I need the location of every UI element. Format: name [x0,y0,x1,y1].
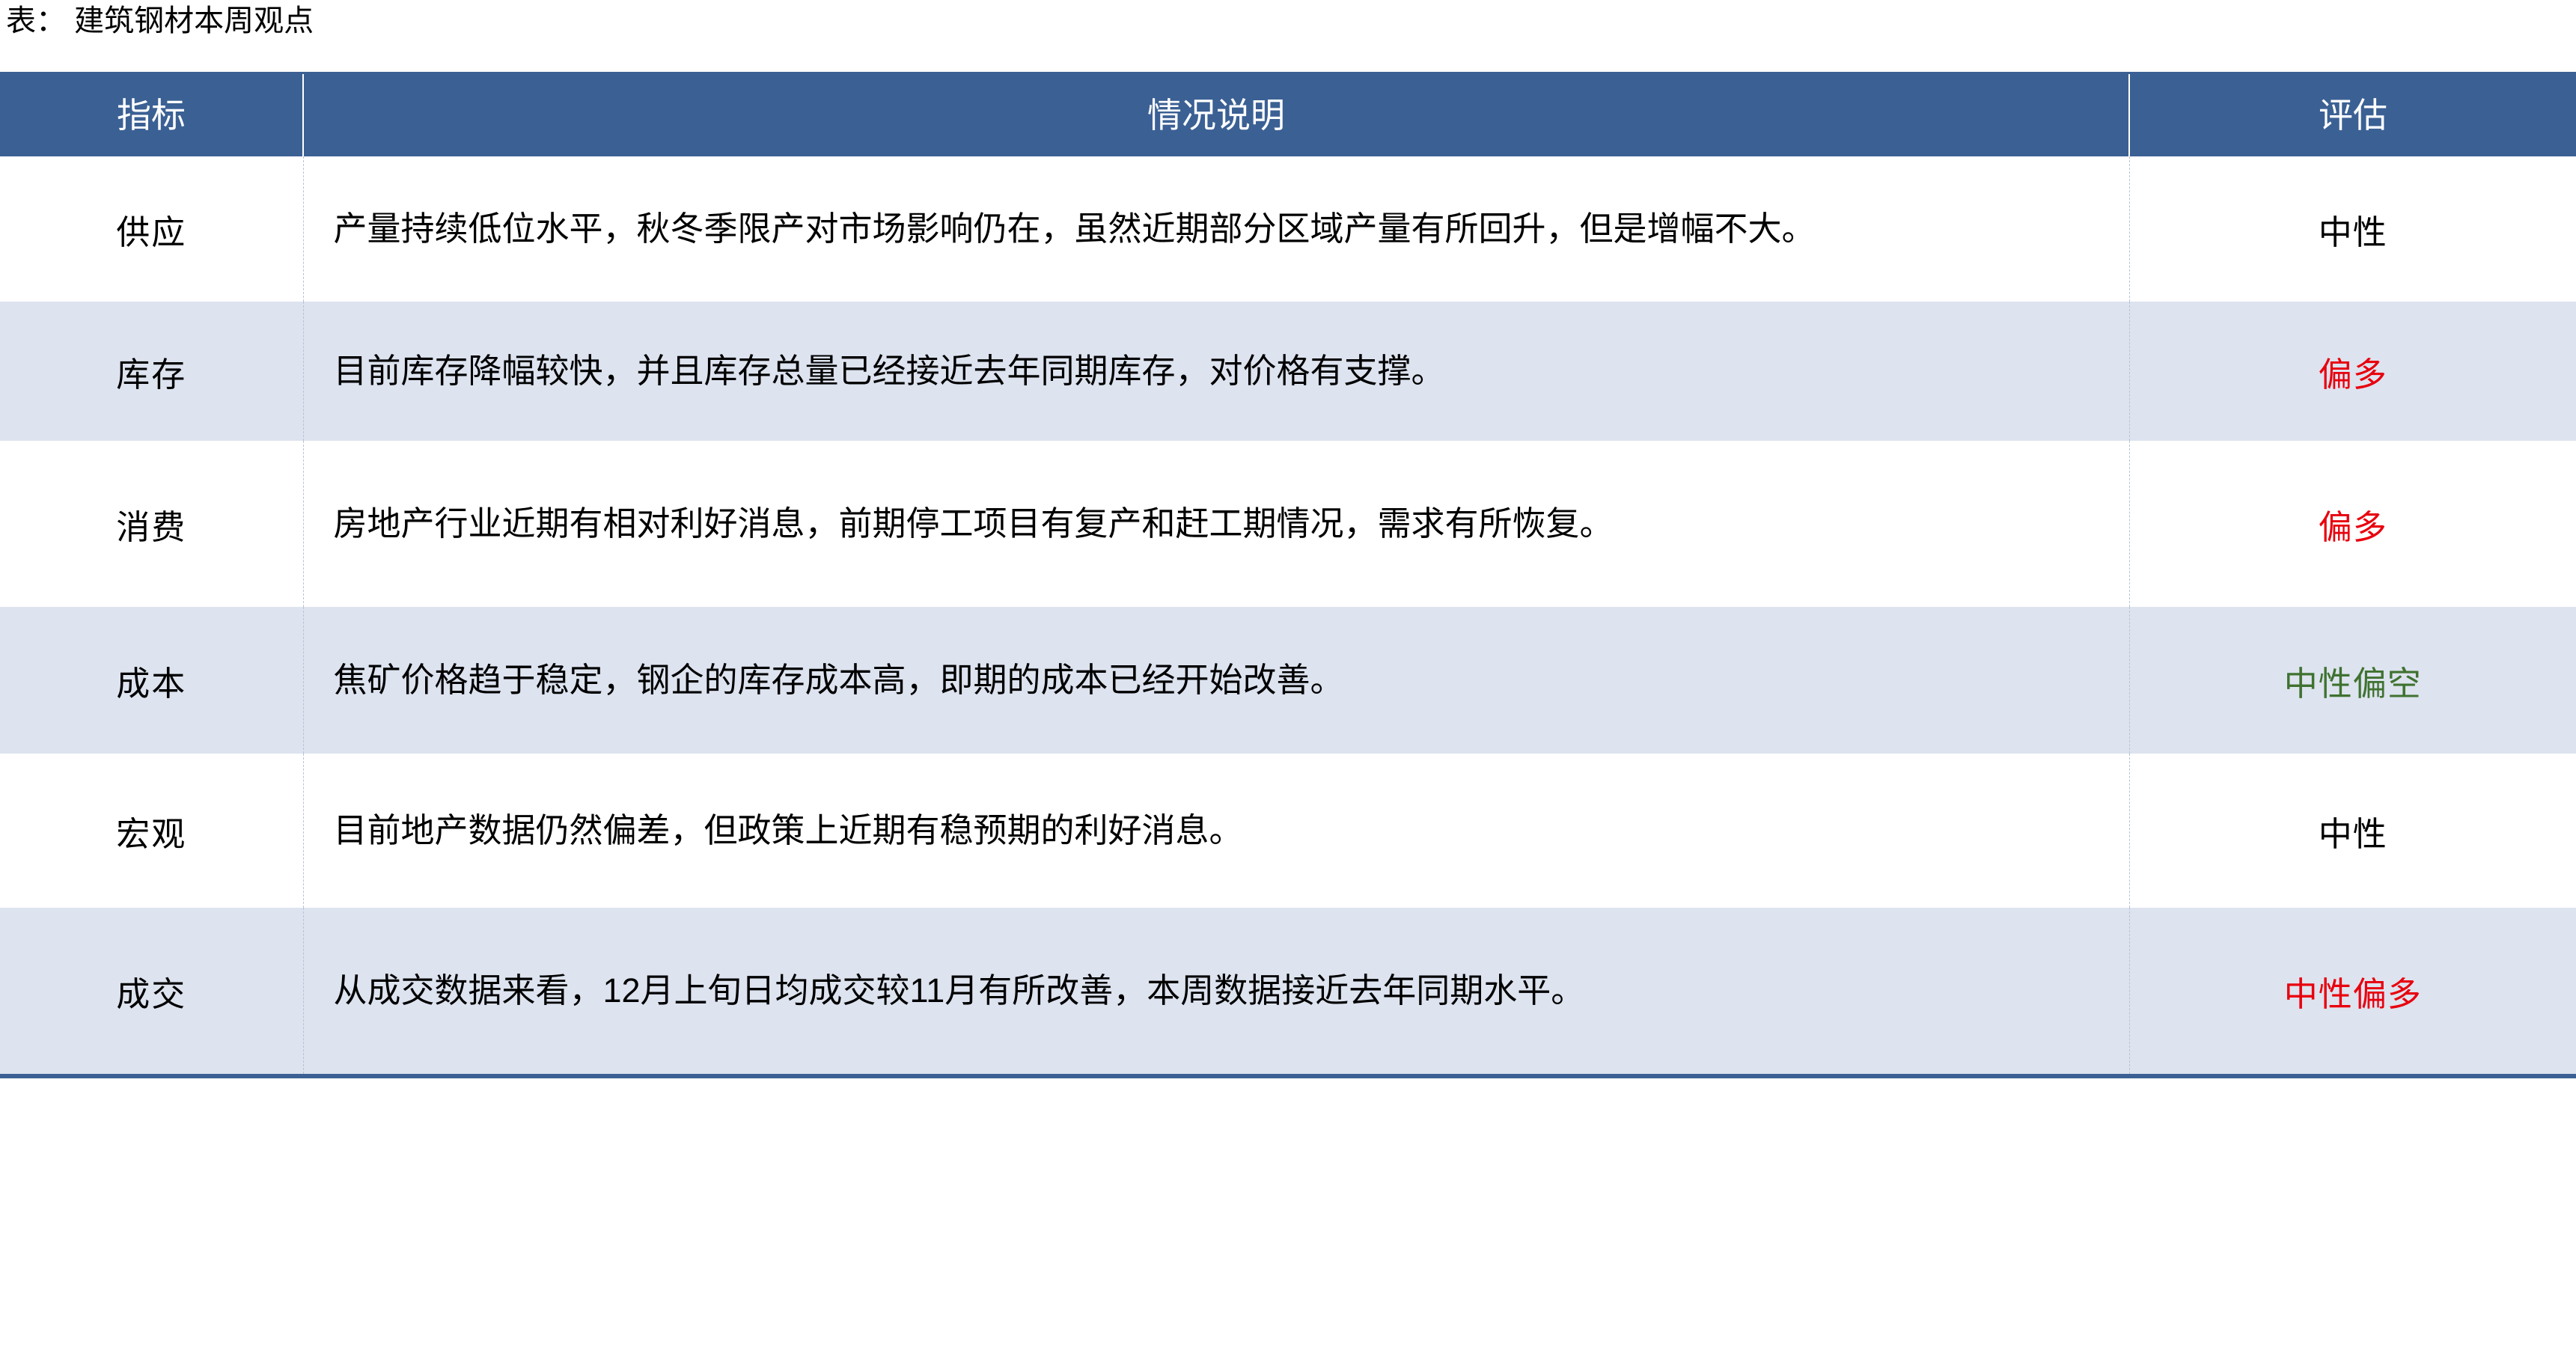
cell-evaluation: 中性 [2129,754,2576,908]
table-header-row: 指标 情况说明 评估 [0,73,2576,157]
cell-description: 房地产行业近期有相对利好消息，前期停工项目有复产和赶工期情况，需求有所恢复。 [303,441,2129,607]
table-row: 库存 目前库存降幅较快，并且库存总量已经接近去年同期库存，对价格有支撑。 偏多 [0,302,2576,441]
cell-evaluation: 中性偏多 [2129,908,2576,1076]
table-row: 供应 产量持续低位水平，秋冬季限产对市场影响仍在，虽然近期部分区域产量有所回升，… [0,156,2576,302]
cell-evaluation: 偏多 [2129,302,2576,441]
column-header-evaluation: 评估 [2129,73,2576,157]
column-header-indicator: 指标 [0,73,303,157]
cell-evaluation: 中性 [2129,156,2576,302]
cell-description: 目前地产数据仍然偏差，但政策上近期有稳预期的利好消息。 [303,754,2129,908]
cell-evaluation: 中性偏空 [2129,607,2576,754]
cell-description: 焦矿价格趋于稳定，钢企的库存成本高，即期的成本已经开始改善。 [303,607,2129,754]
slide-page: 表： 建筑钢材本周观点 我 的 钢 铁 Mysteel.com 指标 情况说明 … [0,0,2576,1350]
table-row: 成交 从成交数据来看，12月上旬日均成交较11月有所改善，本周数据接近去年同期水… [0,908,2576,1076]
cell-description: 目前库存降幅较快，并且库存总量已经接近去年同期库存，对价格有支撑。 [303,302,2129,441]
table-row: 成本 焦矿价格趋于稳定，钢企的库存成本高，即期的成本已经开始改善。 中性偏空 [0,607,2576,754]
cell-indicator: 消费 [0,441,303,607]
weekly-view-table: 指标 情况说明 评估 供应 产量持续低位水平，秋冬季限产对市场影响仍在，虽然近期… [0,72,2576,1078]
cell-indicator: 库存 [0,302,303,441]
weekly-view-table-wrapper: 指标 情况说明 评估 供应 产量持续低位水平，秋冬季限产对市场影响仍在，虽然近期… [0,72,2576,1078]
table-body: 供应 产量持续低位水平，秋冬季限产对市场影响仍在，虽然近期部分区域产量有所回升，… [0,156,2576,1076]
cell-indicator: 宏观 [0,754,303,908]
table-header: 指标 情况说明 评估 [0,73,2576,157]
table-row: 宏观 目前地产数据仍然偏差，但政策上近期有稳预期的利好消息。 中性 [0,754,2576,908]
cell-indicator: 成交 [0,908,303,1076]
column-header-description: 情况说明 [303,73,2129,157]
table-caption: 表： 建筑钢材本周观点 [6,1,314,40]
table-row: 消费 房地产行业近期有相对利好消息，前期停工项目有复产和赶工期情况，需求有所恢复… [0,441,2576,607]
cell-indicator: 供应 [0,156,303,302]
cell-indicator: 成本 [0,607,303,754]
cell-evaluation: 偏多 [2129,441,2576,607]
cell-description: 从成交数据来看，12月上旬日均成交较11月有所改善，本周数据接近去年同期水平。 [303,908,2129,1076]
cell-description: 产量持续低位水平，秋冬季限产对市场影响仍在，虽然近期部分区域产量有所回升，但是增… [303,156,2129,302]
